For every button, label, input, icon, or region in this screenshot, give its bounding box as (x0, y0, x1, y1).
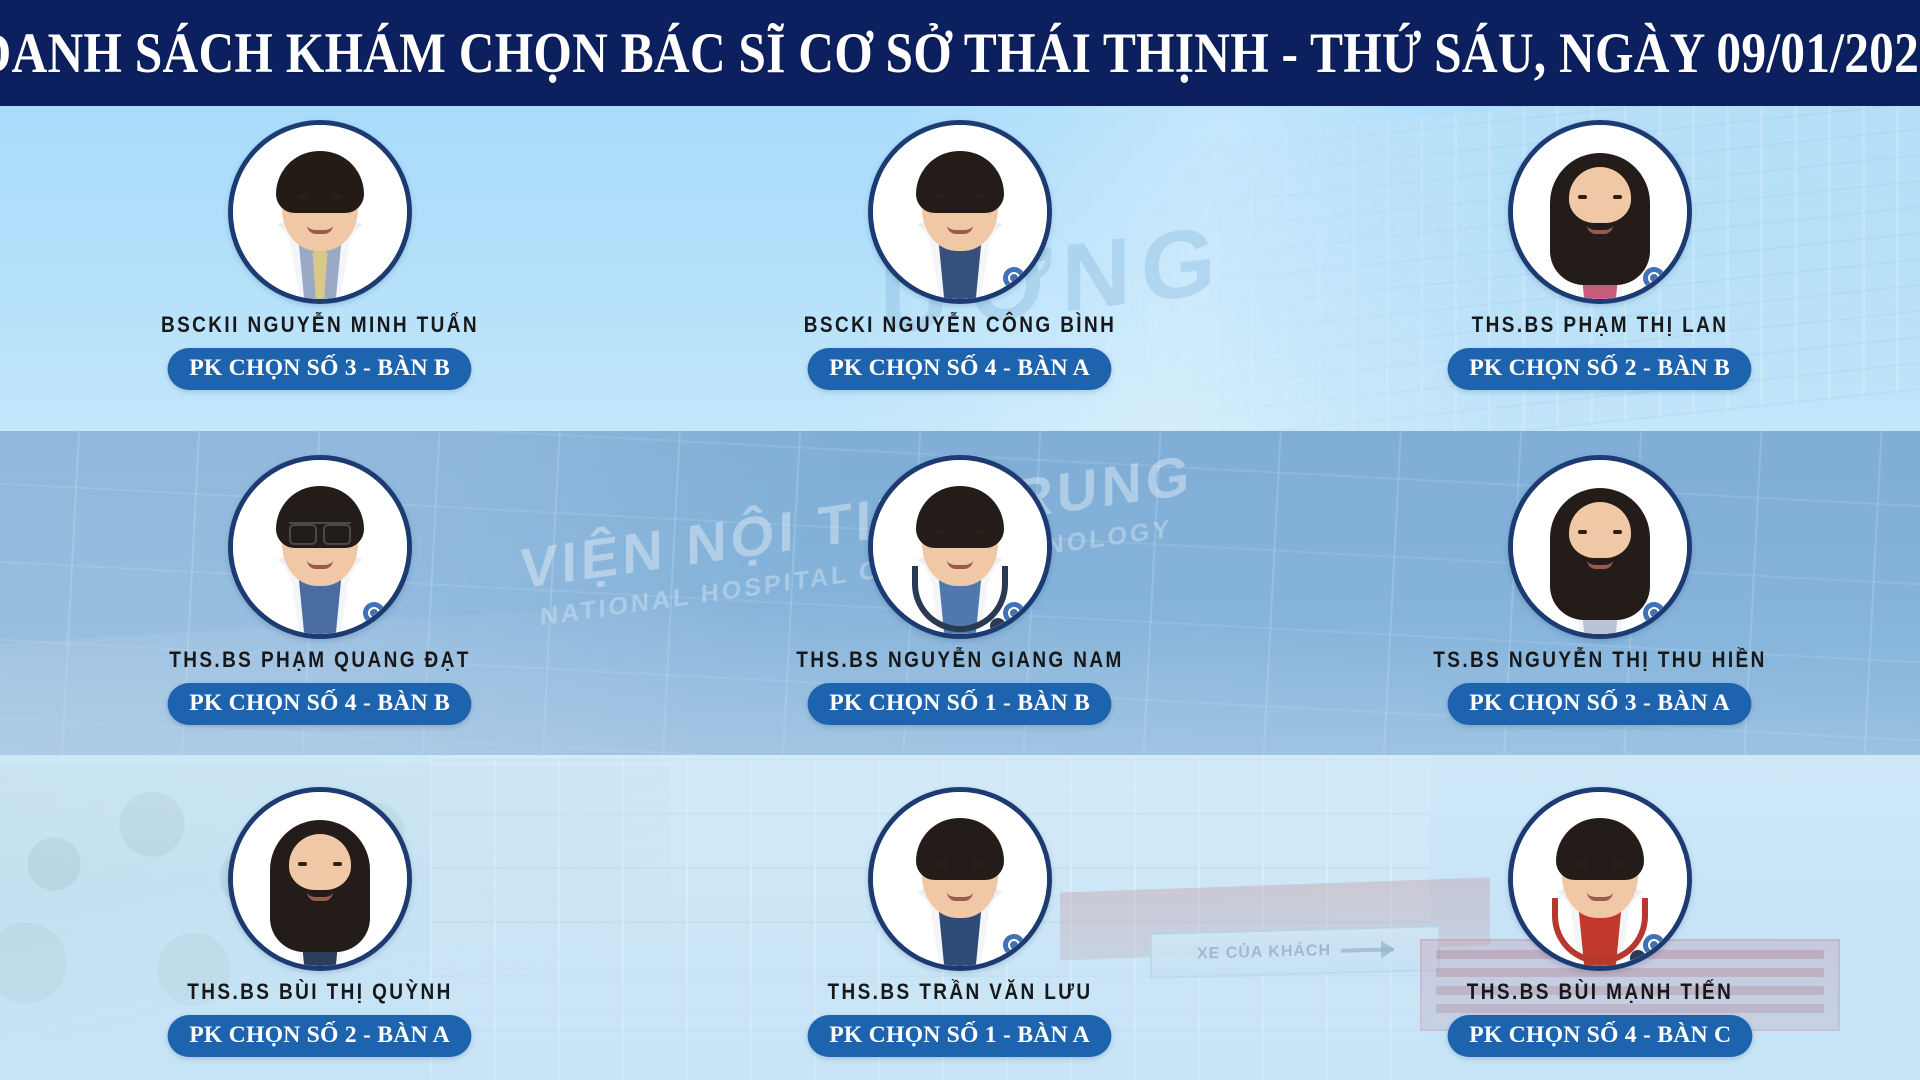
doctor-room-badge[interactable]: PK CHỌN SỐ 2 - BÀN B (1448, 348, 1752, 390)
doctor-card[interactable]: THS.BS TRẦN VĂN LƯU PK CHỌN SỐ 1 - BÀN A (640, 755, 1280, 1080)
doctor-name: THS.BS BÙI MẠNH TIẾN (1467, 980, 1734, 1006)
doctor-name: THS.BS PHẠM QUANG ĐẠT (169, 648, 471, 674)
doctor-room-badge[interactable]: PK CHỌN SỐ 4 - BÀN C (1447, 1015, 1752, 1057)
doctor-portrait-nguyen-cong-binh (868, 120, 1052, 304)
doctor-row: THS.BS BÙI THỊ QUỲNH PK CHỌN SỐ 2 - BÀN … (0, 755, 1920, 1080)
doctor-row: THS.BS PHẠM QUANG ĐẠT PK CHỌN SỐ 4 - BÀN… (0, 431, 1920, 756)
doctor-card[interactable]: THS.BS BÙI MẠNH TIẾN PK CHỌN SỐ 4 - BÀN … (1280, 755, 1920, 1080)
doctor-card[interactable]: THS.BS PHẠM THỊ LAN PK CHỌN SỐ 2 - BÀN B (1280, 106, 1920, 431)
doctor-portrait-tran-van-luu (868, 787, 1052, 971)
doctor-room-badge[interactable]: PK CHỌN SỐ 1 - BÀN A (808, 1015, 1112, 1057)
doctor-portrait-bui-manh-tien (1508, 787, 1692, 971)
doctor-card[interactable]: THS.BS NGUYỄN GIANG NAM PK CHỌN SỐ 1 - B… (640, 431, 1280, 756)
doctor-portrait-pham-thi-lan (1508, 120, 1692, 304)
doctor-portrait-nguyen-thi-thu-hien (1508, 455, 1692, 639)
doctor-room-badge[interactable]: PK CHỌN SỐ 3 - BÀN A (1448, 683, 1752, 725)
doctor-portrait-bui-thi-quynh (228, 787, 412, 971)
doctor-name: THS.BS TRẦN VĂN LƯU (827, 980, 1092, 1006)
page-title: DANH SÁCH KHÁM CHỌN BÁC SĨ CƠ SỞ THÁI TH… (0, 20, 1920, 86)
doctor-card[interactable]: THS.BS PHẠM QUANG ĐẠT PK CHỌN SỐ 4 - BÀN… (0, 431, 640, 756)
doctor-room-badge[interactable]: PK CHỌN SỐ 4 - BÀN A (808, 348, 1112, 390)
doctor-card[interactable]: TS.BS NGUYỄN THỊ THU HIỀN PK CHỌN SỐ 3 -… (1280, 431, 1920, 756)
doctor-room-badge[interactable]: PK CHỌN SỐ 4 - BÀN B (168, 683, 472, 725)
doctor-portrait-nguyen-minh-tuan (228, 120, 412, 304)
doctor-room-badge[interactable]: PK CHỌN SỐ 3 - BÀN B (168, 348, 472, 390)
doctor-name: BSCKI NGUYỄN CÔNG BÌNH (804, 313, 1116, 339)
doctor-name: THS.BS PHẠM THỊ LAN (1472, 313, 1729, 339)
doctor-room-badge[interactable]: PK CHỌN SỐ 1 - BÀN B (808, 683, 1112, 725)
doctor-grid: BSCKII NGUYỄN MINH TUẤN PK CHỌN SỐ 3 - B… (0, 106, 1920, 1080)
doctor-card[interactable]: BSCKII NGUYỄN MINH TUẤN PK CHỌN SỐ 3 - B… (0, 106, 640, 431)
doctor-name: BSCKII NGUYỄN MINH TUẤN (161, 313, 479, 339)
doctor-card[interactable]: BSCKI NGUYỄN CÔNG BÌNH PK CHỌN SỐ 4 - BÀ… (640, 106, 1280, 431)
doctor-name: THS.BS NGUYỄN GIANG NAM (796, 648, 1124, 674)
header-bar: DANH SÁCH KHÁM CHỌN BÁC SĨ CƠ SỞ THÁI TH… (0, 0, 1920, 106)
doctor-card[interactable]: THS.BS BÙI THỊ QUỲNH PK CHỌN SỐ 2 - BÀN … (0, 755, 640, 1080)
doctor-portrait-nguyen-giang-nam (868, 455, 1052, 639)
doctor-name: TS.BS NGUYỄN THỊ THU HIỀN (1433, 648, 1766, 674)
doctor-name: THS.BS BÙI THỊ QUỲNH (187, 980, 452, 1006)
doctor-room-badge[interactable]: PK CHỌN SỐ 2 - BÀN A (168, 1015, 472, 1057)
doctor-row: BSCKII NGUYỄN MINH TUẤN PK CHỌN SỐ 3 - B… (0, 106, 1920, 431)
doctor-portrait-pham-quang-dat (228, 455, 412, 639)
